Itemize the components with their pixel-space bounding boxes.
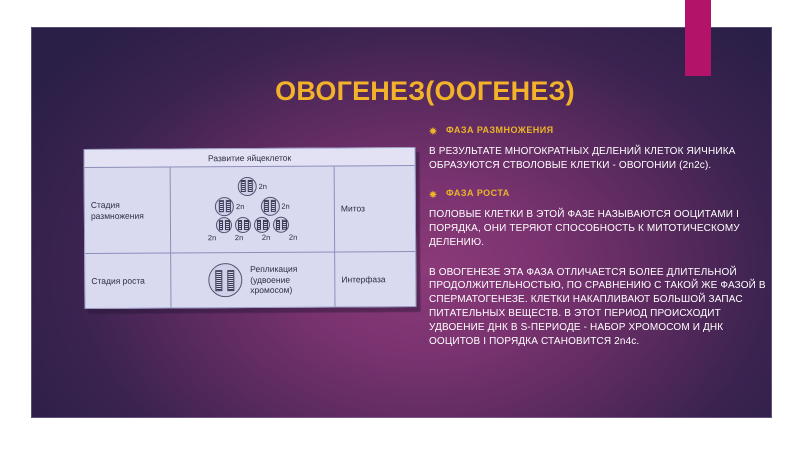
table-row: Стадия роста Репликация (удвоение <box>85 252 415 308</box>
chromosome-icon <box>275 220 280 230</box>
cell-icon <box>273 217 289 233</box>
oogenesis-diagram: Развитие яйцеклеток Стадия размножения <box>84 147 417 309</box>
ploidy-label: 2n <box>230 233 248 242</box>
cell-icon <box>260 197 279 216</box>
process-label-mitosis: Митоз <box>335 166 416 251</box>
ploidy-label: 2n <box>257 233 275 242</box>
replication-label-line: Репликация <box>250 264 297 275</box>
slide-background: ОВОГЕНЕЗ(ООГЕНЕЗ) Развитие яйцеклеток Ст… <box>31 27 772 418</box>
table-row: Стадия размножения 2n <box>85 166 416 254</box>
chromosome-icon <box>225 220 230 230</box>
replication-cell: Репликация (удвоение хромосом) <box>171 252 335 307</box>
cell-icon <box>254 217 270 233</box>
slide-root: ОВОГЕНЕЗ(ООГЕНЕЗ) Развитие яйцеклеток Ст… <box>0 0 800 450</box>
chromosome-icon <box>216 270 223 291</box>
cell-icon <box>216 217 232 233</box>
cell-icon <box>238 177 257 196</box>
diagram-header: Развитие яйцеклеток <box>85 148 415 168</box>
stage-label-proliferation: Стадия размножения <box>85 167 172 253</box>
cell-icon <box>235 217 251 233</box>
chromosome-icon <box>218 220 223 230</box>
chromosome-icon <box>225 200 230 212</box>
chromosome-icon <box>228 270 235 291</box>
cell-unit: 2n <box>215 197 244 216</box>
chromosome-icon <box>263 220 268 230</box>
chromosome-icon <box>244 220 249 230</box>
replication-group: Репликация (удвоение хромосом) <box>208 263 297 298</box>
process-label-interphase: Интерфаза <box>335 252 415 306</box>
replication-label-line: хромосом) <box>250 285 297 296</box>
diamond-bullet-icon <box>429 190 437 198</box>
chromosome-icon <box>218 200 223 212</box>
accent-bar <box>685 0 711 76</box>
content-column: ФАЗА РАЗМНОЖЕНИЯ В РЕЗУЛЬТАТЕ МНОГОКРАТН… <box>429 125 767 348</box>
diamond-bullet-icon <box>429 127 437 135</box>
cell-division-tree: 2n 2n <box>175 176 330 242</box>
chromosome-icon <box>237 220 242 230</box>
chromosome-icon <box>282 220 287 230</box>
cell-unit: 2n <box>238 177 267 196</box>
tree-level-2: 2n 2n <box>215 197 290 216</box>
section-heading-proliferation: ФАЗА РАЗМНОЖЕНИЯ <box>429 125 767 136</box>
tree-level-3 <box>216 217 289 233</box>
tree-level-1: 2n <box>238 177 267 196</box>
chromosome-icon <box>241 180 246 192</box>
ploidy-label: 2n <box>259 182 267 191</box>
ploidy-label: 2n <box>281 201 289 210</box>
chromosome-icon <box>271 200 276 212</box>
section-body-growth: ПОЛОВЫЕ КЛЕТКИ В ЭТОЙ ФАЗЕ НАЗЫВАЮТСЯ ОО… <box>429 208 767 249</box>
closing-paragraph: В ОВОГЕНЕЗЕ ЭТА ФАЗА ОТЛИЧАЕТСЯ БОЛЕЕ ДЛ… <box>429 266 767 349</box>
cell-unit: 2n <box>260 197 289 216</box>
ploidy-label: 2n <box>284 232 302 241</box>
page-title: ОВОГЕНЕЗ(ООГЕНЕЗ) <box>215 77 635 105</box>
cell-icon <box>208 263 242 297</box>
diagram-panel: Развитие яйцеклеток Стадия размножения <box>84 147 417 309</box>
tree-level-3-labels: 2n 2n 2n 2n <box>203 232 302 242</box>
chromosome-icon <box>248 180 253 192</box>
replication-label: Репликация (удвоение хромосом) <box>250 264 297 295</box>
ploidy-label: 2n <box>236 202 244 211</box>
replication-label-line: (удвоение <box>250 275 297 286</box>
chromosome-icon <box>256 220 261 230</box>
stage-label-growth: Стадия роста <box>85 253 171 308</box>
section-body-proliferation: В РЕЗУЛЬТАТЕ МНОГОКРАТНЫХ ДЕЛЕНИЙ КЛЕТОК… <box>429 145 767 173</box>
diagram-table: Стадия размножения 2n <box>85 166 416 308</box>
section-heading-growth: ФАЗА РОСТА <box>429 188 767 199</box>
ploidy-label: 2n <box>203 233 221 242</box>
cell-icon <box>215 197 234 216</box>
mitosis-tree-cell: 2n 2n <box>171 166 336 252</box>
chromosome-icon <box>264 200 269 212</box>
